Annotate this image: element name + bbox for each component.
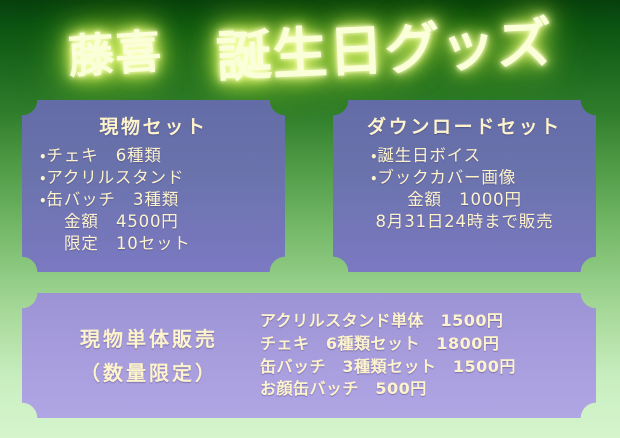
physical-set-limit: 限定 10セット [40,233,285,255]
single-sale-title: 現物単体販売 [38,322,260,356]
list-item: ・アクリルスタンド [40,167,285,189]
title-main-text: 誕生日グッズ [214,0,554,92]
panel-single-sale: 現物単体販売 （数量限定） アクリルスタンド単体 1500円 チェキ 6種類セッ… [22,293,596,418]
download-set-price: 金額 1000円 [333,189,596,211]
single-sale-label: 現物単体販売 （数量限定） [38,322,260,390]
list-item: お顔缶バッチ 500円 [260,378,586,401]
panel-download-set: ダウンロードセット ・誕生日ボイス ・ブックカバー画像 金額 1000円 8月3… [333,100,596,272]
poster-title: 藤喜 誕生日グッズ [0,0,620,96]
list-item: 缶バッチ 3種類セット 1500円 [260,356,586,379]
list-item: ・缶バッチ 3種類 [40,189,285,211]
download-set-heading: ダウンロードセット [333,112,596,139]
title-artist-name: 藤喜 [66,15,164,87]
list-item: アクリルスタンド単体 1500円 [260,310,586,333]
poster-canvas: 藤喜 誕生日グッズ 現物セット ・チェキ 6種類 ・アクリルスタンド ・缶バッチ… [0,0,620,438]
physical-set-heading: 現物セット [22,112,285,139]
list-item: ・ブックカバー画像 [333,167,596,189]
physical-set-price: 金額 4500円 [40,211,285,233]
single-sale-price-list: アクリルスタンド単体 1500円 チェキ 6種類セット 1800円 缶バッチ 3… [260,310,586,401]
panel-physical-set: 現物セット ・チェキ 6種類 ・アクリルスタンド ・缶バッチ 3種類 金額 45… [22,100,285,272]
download-set-deadline: 8月31日24時まで販売 [333,211,596,233]
list-item: チェキ 6種類セット 1800円 [260,333,586,356]
list-item: ・誕生日ボイス [333,145,596,167]
physical-set-list: ・チェキ 6種類 ・アクリルスタンド ・缶バッチ 3種類 金額 4500円 限定… [22,145,285,255]
download-set-list: ・誕生日ボイス ・ブックカバー画像 金額 1000円 8月31日24時まで販売 [333,145,596,233]
single-sale-subtitle: （数量限定） [38,356,260,390]
list-item: ・チェキ 6種類 [40,145,285,167]
